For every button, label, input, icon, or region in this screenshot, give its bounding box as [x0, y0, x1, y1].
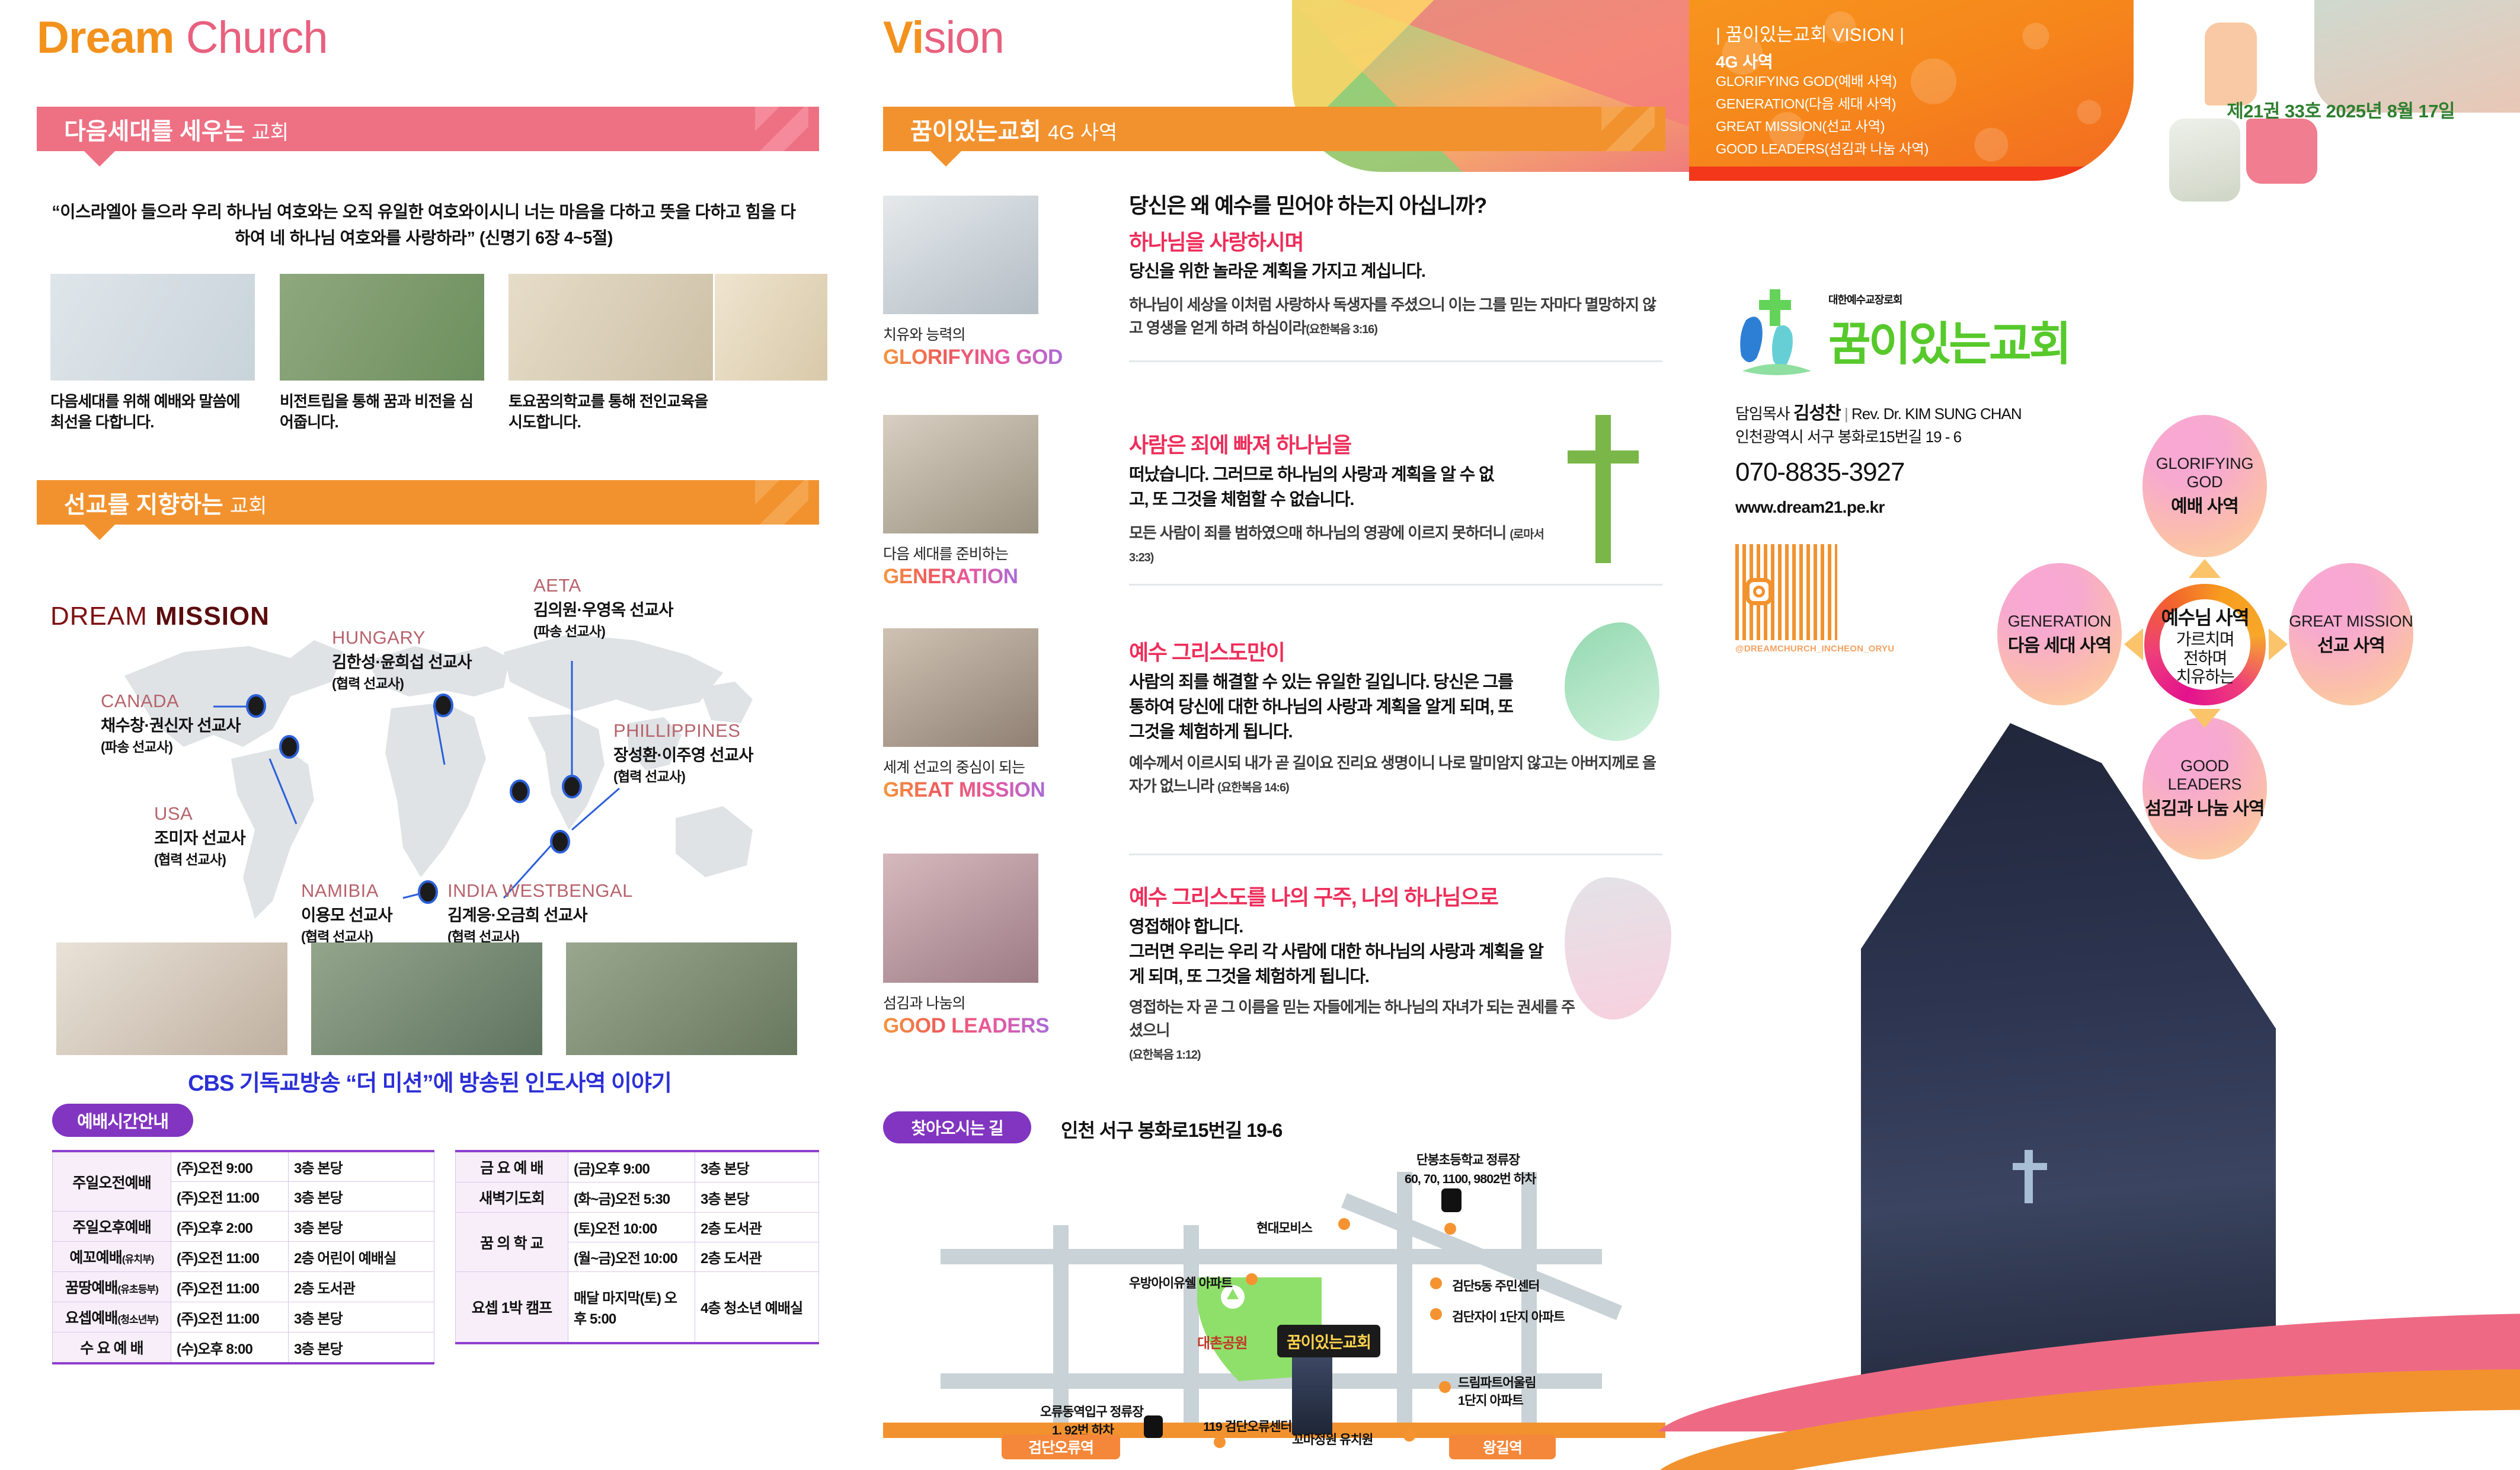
gloria-caption-kr: 치유와 능력의 [883, 323, 965, 344]
node-kr: 예배 사역 [2171, 491, 2238, 517]
map-label-kindergarten: 꼬마정원 유치원 [1292, 1430, 1373, 1448]
map-dot [1430, 1277, 1442, 1289]
ribbon-chevron [1601, 107, 1655, 151]
mission-verse: 예수께서 이르시되 내가 곧 길이요 진리요 생명이니 나로 말미암지 않고는 … [1129, 752, 1662, 798]
masthead-vision-title: | 꿈이있는교회 VISION | [1716, 20, 1904, 46]
photo-great-mission [883, 628, 1038, 747]
arrow-up-icon [2189, 559, 2221, 578]
table-row: 주일오후예배 (주)오후 2:00 3층 본당 [53, 1212, 434, 1242]
ribbon-tail [84, 151, 115, 167]
diagram-center-jesus-ministry: 예수님 사역 가르치며 전하며 치유하는 [2144, 584, 2266, 705]
pastor-name-en: Rev. Dr. KIM SUNG CHAN [1851, 405, 2022, 423]
photo-good-leaders-meal [883, 854, 1038, 983]
divider [1129, 360, 1662, 362]
masthead-4g-item: GREAT MISSION(선교 사역) [1716, 115, 1929, 138]
schedule-name-sub: (유초등부) [117, 1284, 158, 1295]
map-label-geomdan-xi: 검단자이 1단지 아파트 [1452, 1307, 1565, 1325]
mission-body: 사람의 죄를 해결할 수 있는 유일한 길입니다. 당신은 그를 통하여 당신에… [1129, 670, 1532, 744]
missionary-country: AETA [533, 575, 673, 596]
map-church-tag: 꿈이있는교회 [1277, 1325, 1380, 1357]
schedule-name: 수 요 예 배 [80, 1340, 143, 1357]
map-label-oryu-stop: 오류동역입구 정류장 [1040, 1402, 1143, 1420]
ribbon-4g-ministry: 꿈이있는교회 4G 사역 [883, 107, 1665, 151]
ribbon-chevron [755, 107, 808, 151]
table-row: 새벽기도회 (화~금)오전 5:30 3층 본당 [456, 1183, 819, 1213]
bible-verse-deuteronomy: “이스라엘아 들으라 우리 하나님 여호와는 오직 유일한 여호와이시니 너는 … [44, 199, 803, 251]
schedule-time: (수)오후 8:00 [177, 1341, 252, 1357]
missionary-name: 조미자 선교사 [154, 825, 245, 848]
mission-verse-ref: (요한복음 14:6) [1217, 781, 1288, 794]
green-cross-icon [1559, 415, 1648, 563]
ribbon-label: 꿈이있는교회 4G 사역 [883, 112, 1117, 146]
masthead-4g-item: GENERATION(다음 세대 사역) [1716, 92, 1929, 115]
ribbon-label: 선교를 지향하는 교회 [37, 485, 267, 520]
missionary-country: NAMIBIA [301, 880, 392, 902]
photo-cbs-studio [56, 942, 287, 1055]
photo-cbs-interview-1 [311, 942, 542, 1055]
map-label-dreampart-1: 드림파트어울림 [1458, 1373, 1536, 1391]
church-phone: 070-8835-3927 [1735, 458, 1904, 487]
map-label-bus-numbers: 60, 70, 1100, 9802번 하차 [1405, 1169, 1536, 1187]
table-row: 주일오전예배 (주)오전 9:00 3층 본당 [53, 1151, 434, 1182]
map-dot [1444, 1223, 1456, 1235]
diagram-node-glorifying-god: GLORIFYING GOD 예배 사역 [2142, 415, 2267, 557]
ribbon-label-thin: 교회 [230, 495, 267, 517]
q-why-believe: 당신은 왜 예수를 믿어야 하는지 아십니까? [1129, 188, 1486, 219]
generation-caption-en: GENERATION [883, 565, 1018, 589]
directions-map-graphic [883, 1144, 1665, 1464]
mission-head-red: 예수 그리스도만이 [1129, 635, 1284, 666]
schedule-name: 금 요 예 배 [480, 1160, 543, 1177]
missionary-name: 김한성·윤희섭 선교사 [332, 648, 472, 672]
mission-caption-kr: 세계 선교의 중심이 되는 [883, 756, 1025, 777]
gloria-verse: 하나님이 세상을 이처럼 사랑하사 독생자를 주셨으니 이는 그를 믿는 자마다… [1129, 293, 1662, 340]
schedule-place: 3층 본당 [294, 1220, 343, 1236]
tile-pink [2246, 119, 2317, 184]
building-cross-icon [2009, 1150, 2051, 1203]
leaders-verse-ref: (요한복음 1:12) [1129, 1049, 1200, 1062]
gloria-body: 당신을 위한 놀라운 계획을 가지고 계십니다. [1129, 259, 1615, 284]
masthead-4g-label: 4G 사역 [1716, 49, 1773, 73]
map-dot [1439, 1381, 1451, 1393]
map-label-park: 대촌공원 [1197, 1331, 1247, 1352]
map-station-wanggil: 왕길역 [1449, 1434, 1556, 1459]
diagram-node-great-mission: GREAT MISSION 선교 사역 [2289, 563, 2413, 705]
node-en: GREAT MISSION [2289, 612, 2413, 631]
table-row: 꿈 의 학 교 (토)오전 10:00 2층 도서관 [456, 1213, 819, 1242]
bus-icon-1 [1441, 1188, 1462, 1212]
schedule-place: 3층 본당 [701, 1191, 749, 1207]
table-row: 요셉 1박 캠프 매달 마지막(토) 오후 5:00 4층 청소년 예배실 [456, 1272, 819, 1343]
schedule-name: 꿈땅예배 [65, 1280, 117, 1296]
wave-white-gap [1654, 1399, 2520, 1470]
divider [1129, 584, 1662, 586]
vision-title: Vision [883, 12, 1004, 63]
missionary-type: (협력 선교사) [613, 765, 753, 785]
schedule-place: 2층 도서관 [701, 1251, 762, 1267]
tile-peach [2205, 23, 2257, 106]
node-kr: 선교 사역 [2317, 631, 2385, 657]
gloria-caption-en: GLORIFYING GOD [883, 346, 1063, 369]
map-label-119-center: 119 검단오류센터 [1203, 1417, 1291, 1435]
node-en: GOOD LEADERS [2142, 757, 2267, 794]
map-label-danbong-stop: 단봉초등학교 정류장 [1416, 1150, 1520, 1168]
diagram-center-inner: 예수님 사역 가르치며 전하며 치유하는 [2160, 599, 2250, 690]
photo-cbs-interview-2 [566, 942, 797, 1055]
generation-caption-kr: 다음 세대를 준비하는 [883, 542, 1008, 564]
missionary-philippines: PHILLIPPINES 장성환·이주영 선교사 (협력 선교사) [613, 720, 753, 785]
schedule-time: (주)오전 11:00 [177, 1190, 259, 1206]
map-dot [1246, 1273, 1258, 1285]
masthead-4g-list: GLORIFYING GOD(예배 사역) GENERATION(다음 세대 사… [1716, 70, 1929, 160]
diagram-node-generation: GENERATION 다음 세대 사역 [1997, 563, 2122, 705]
schedule-name: 주일오전예배 [72, 1175, 151, 1191]
generation-body: 떠났습니다. 그러므로 하나님의 사랑과 계획을 알 수 없고, 또 그것을 체… [1129, 462, 1508, 512]
missionary-country: CANADA [101, 691, 241, 712]
schedule-time: (화~금)오전 5:30 [574, 1191, 670, 1207]
divider [1129, 854, 1662, 855]
missionary-india: INDIA WESTBENGAL 김계응·오금희 선교사 (협력 선교사) [447, 880, 633, 945]
masthead-red-strip [1689, 167, 2134, 181]
bus-icon-2 [1144, 1415, 1163, 1438]
masthead-4g-item: GOOD LEADERS(섬김과 나눔 사역) [1716, 138, 1929, 160]
schedule-place: 3층 본당 [701, 1161, 749, 1177]
ribbon-label-thin: 교회 [252, 122, 289, 144]
center-title: 예수님 사역 [2161, 603, 2249, 630]
ribbon-chevron [755, 480, 808, 525]
pastor-label: 담임목사 [1735, 405, 1790, 423]
missionary-name: 김계응·오금희 선교사 [447, 902, 633, 925]
table-row: 금 요 예 배 (금)오후 9:00 3층 본당 [456, 1151, 819, 1183]
table-row: 요셉예배(청소년부) (주)오전 11:00 3층 본당 [53, 1302, 434, 1332]
missionary-name: 채수창·권신자 선교사 [101, 712, 241, 736]
center-lines: 가르치며 전하며 치유하는 [2176, 630, 2234, 686]
ribbon-mission-oriented: 선교를 지향하는 교회 [37, 480, 819, 525]
missionary-name: 김의원·우영옥 선교사 [533, 596, 673, 620]
arrow-left-icon [2124, 628, 2143, 660]
schedule-time: (주)오전 11:00 [177, 1251, 259, 1267]
bulletin-page: Dream Church 다음세대를 세우는 교회 “이스라엘아 들으라 우리 … [0, 0, 2520, 1470]
directions-address: 인천 서구 봉화로15번길 19-6 [1061, 1116, 1282, 1143]
leaders-head-red: 예수 그리스도를 나의 구주, 나의 하나님으로 [1129, 880, 1498, 911]
photo-concert [715, 274, 827, 381]
schedule-name: 꿈 의 학 교 [480, 1235, 543, 1252]
schedule-time: (주)오전 9:00 [177, 1161, 252, 1177]
church-logo-main-text: 꿈이있는교회 [1828, 307, 2070, 373]
missionary-name: 이용모 선교사 [301, 902, 392, 925]
photo-caption-2: 비전트립을 통해 꿈과 비전을 심어줍니다. [280, 391, 475, 433]
map-dot [1403, 1430, 1415, 1442]
node-en: GENERATION [2008, 612, 2112, 631]
diagram-node-good-leaders: GOOD LEADERS 섬김과 나눔 사역 [2142, 717, 2267, 859]
generation-verse: 모든 사람이 죄를 범하였으매 하나님의 영광에 이르지 못하더니 (로마서 3… [1129, 522, 1544, 568]
leaders-body: 영접해야 합니다. 그러면 우리는 우리 각 사람에 대한 하나님의 사랑과 계… [1129, 915, 1556, 989]
node-en: GLORIFYING GOD [2142, 455, 2267, 491]
missionary-country: INDIA WESTBENGAL [447, 880, 633, 902]
gloria-head-red: 하나님을 사랑하시며 [1129, 225, 1303, 256]
schedule-place: 3층 본당 [294, 1190, 343, 1206]
schedule-time: (토)오전 10:00 [574, 1221, 657, 1237]
dream-mission-title: DREAM MISSION [50, 602, 270, 631]
generation-verse-text: 모든 사람이 죄를 범하였으매 하나님의 영광에 이르지 못하더니 [1129, 524, 1506, 542]
photo-vision-trip [280, 274, 484, 381]
worship-schedule-table-right: 금 요 예 배 (금)오후 9:00 3층 본당 새벽기도회 (화~금)오전 5… [455, 1150, 819, 1344]
missionary-aeta: AETA 김의원·우영옥 선교사 (파송 선교사) [533, 575, 673, 640]
schedule-place: 3층 본당 [294, 1161, 343, 1177]
ribbon-next-generation: 다음세대를 세우는 교회 [37, 107, 819, 151]
photo-wooden-cross [2169, 119, 2240, 202]
map-church-building-thumb [1292, 1357, 1332, 1434]
missionary-type: (협력 선교사) [332, 672, 472, 692]
schedule-place: 4층 청소년 예배실 [701, 1300, 802, 1316]
map-label-dreampart-2: 1단지 아파트 [1458, 1391, 1523, 1409]
arrow-right-icon [2269, 628, 2288, 660]
worship-schedule-pill: 예배시간안내 [52, 1104, 193, 1137]
missionary-country: HUNGARY [332, 627, 472, 648]
ribbon-label-bold: 선교를 지향하는 [64, 492, 223, 518]
cbs-broadcast-caption: CBS 기독교방송 “더 미션”에 방송된 인도사역 이야기 [36, 1065, 824, 1097]
church-logo-mark [1735, 285, 1824, 379]
missionary-country: PHILLIPPINES [613, 720, 753, 742]
map-label-woobang-apt: 우방아이유쉘 아파트 [1129, 1273, 1232, 1292]
directions-pill: 찾아오시는 길 [883, 1111, 1031, 1143]
pastor-name-kr: 김성찬 [1793, 404, 1841, 423]
ribbon-label-bold: 꿈이있는교회 [910, 119, 1041, 145]
leaders-verse: 영접하는 자 곧 그 이름을 믿는 자들에게는 하나님의 자녀가 되는 권세를 … [1129, 996, 1579, 1065]
schedule-time: (주)오전 11:00 [177, 1281, 259, 1297]
mission-caption-en: GREAT MISSION [883, 778, 1045, 802]
map-station-geomdan-oryu: 검단오류역 [1002, 1434, 1120, 1459]
photo-generation-gathering [883, 415, 1038, 533]
brand-title: Dream Church [37, 12, 328, 63]
missionary-usa: USA 조미자 선교사 (협력 선교사) [154, 803, 245, 868]
hand-sketch-decor [1565, 877, 1671, 1020]
gloria-verse-text: 하나님이 세상을 이처럼 사랑하사 독생자를 주셨으니 이는 그를 믿는 자마다… [1129, 296, 1656, 337]
ribbon-tail [84, 525, 115, 540]
map-label-hyundai-mobis: 현대모비스 [1256, 1218, 1312, 1236]
directions-pill-label: 찾아오시는 길 [911, 1116, 1003, 1139]
ribbon-label: 다음세대를 세우는 교회 [37, 112, 289, 146]
schedule-name: 요셉 1박 캠프 [472, 1300, 552, 1316]
generation-head-red: 사람은 죄에 빠져 하나님을 [1129, 428, 1351, 459]
brand-word-dream: Dream [37, 12, 174, 63]
schedule-place: 2층 어린이 예배실 [294, 1251, 396, 1267]
schedule-name: 예꼬예배 [69, 1249, 121, 1266]
missionary-name: 장성환·이주영 선교사 [613, 742, 753, 765]
masthead-4g-item: GLORIFYING GOD(예배 사역) [1716, 70, 1929, 92]
church-address: 인천광역시 서구 봉화로15번길 19 - 6 [1735, 426, 1961, 449]
dream-mission-bold: MISSION [155, 602, 270, 631]
schedule-time: (월~금)오전 10:00 [574, 1251, 677, 1267]
node-kr: 섬김과 나눔 사역 [2145, 794, 2265, 820]
brand-word-church: Church [174, 12, 328, 63]
photo-worship-service [883, 196, 1038, 314]
table-row: 꿈땅예배(유초등부) (주)오전 11:00 2층 도서관 [53, 1272, 434, 1302]
missionary-country: USA [154, 803, 245, 825]
church-logo-small-text: 대한예수교장로회 [1828, 292, 1902, 307]
church-website: www.dream21.pe.kr [1735, 498, 1885, 517]
mission-verse-text: 예수께서 이르시되 내가 곧 길이요 진리요 생명이니 나로 말미암지 않고는 … [1129, 754, 1656, 795]
map-dot [1338, 1218, 1350, 1230]
green-map-shape [1565, 622, 1659, 741]
vision-word-sion: sion [923, 12, 1003, 63]
arrow-down-icon [2189, 709, 2221, 728]
worship-schedule-pill-label: 예배시간안내 [77, 1108, 168, 1133]
world-mission-map: DREAM MISSION CANADA 채수창·권신자 선교사 (파송 선교사… [36, 569, 824, 925]
instagram-icon-lens [1753, 586, 1765, 597]
missionary-type: (협력 선교사) [154, 848, 245, 868]
table-row: 수 요 예 배 (수)오후 8:00 3층 본당 [53, 1332, 434, 1364]
schedule-time: (주)오전 11:00 [177, 1311, 259, 1327]
schedule-name: 주일오후예배 [72, 1219, 151, 1236]
schedule-time: (금)오후 9:00 [574, 1161, 650, 1177]
photo-caption-1: 다음세대를 위해 예배와 말씀에 최선을 다합니다. [50, 391, 246, 433]
photo-kids-worship [50, 274, 255, 381]
leaders-caption-en: GOOD LEADERS [883, 1014, 1049, 1038]
worship-schedule-table-left: 주일오전예배 (주)오전 9:00 3층 본당 (주)오전 11:00 3층 본… [52, 1150, 434, 1364]
gloria-verse-ref: (요한복음 3:16) [1306, 323, 1377, 336]
schedule-time: (주)오후 2:00 [177, 1220, 252, 1236]
missionary-type: (파송 선교사) [101, 736, 241, 756]
node-kr: 다음 세대 사역 [2008, 631, 2111, 657]
schedule-name: 요셉예배 [65, 1310, 117, 1327]
dream-mission-light: DREAM [50, 602, 155, 631]
ribbon-label-thin: 4G 사역 [1048, 122, 1117, 144]
schedule-place: 3층 본당 [294, 1341, 343, 1357]
photo-caption-3: 토요꿈의학교를 통해 전인교육을 시도합니다. [509, 391, 716, 433]
schedule-place: 2층 도서관 [701, 1221, 762, 1237]
photo-saturday-school [509, 274, 713, 381]
table-row: 예꼬예배(유치부) (주)오전 11:00 2층 어린이 예배실 [53, 1242, 434, 1272]
map-dot [1214, 1436, 1226, 1448]
vision-masthead-box: | 꿈이있는교회 VISION | 4G 사역 GLORIFYING GOD(예… [1689, 0, 2134, 181]
map-dot [1430, 1308, 1442, 1320]
schedule-name-sub: (청소년부) [117, 1314, 158, 1325]
schedule-place: 2층 도서관 [294, 1281, 355, 1297]
ribbon-tail [930, 151, 961, 167]
leaders-verse-text: 영접하는 자 곧 그 이름을 믿는 자들에게는 하나님의 자녀가 되는 권세를 … [1129, 998, 1575, 1039]
vision-word-vi: Vi [883, 12, 923, 63]
missionary-hungary: HUNGARY 김한성·윤희섭 선교사 (협력 선교사) [332, 627, 472, 692]
missionary-namibia: NAMIBIA 이용모 선교사 (협력 선교사) [301, 880, 392, 945]
schedule-name: 새벽기도회 [479, 1190, 545, 1207]
schedule-time: 매달 마지막(토) 오후 5:00 [574, 1290, 677, 1327]
missionary-type: (파송 선교사) [533, 620, 673, 640]
leaders-caption-kr: 섬김과 나눔의 [883, 992, 965, 1013]
map-label-geomdan5-center: 검단5동 주민센터 [1452, 1276, 1539, 1295]
ribbon-label-bold: 다음세대를 세우는 [64, 119, 245, 145]
issue-number-date: 제21권 33호 2025년 8월 17일 [2227, 96, 2455, 123]
missionary-canada: CANADA 채수창·권신자 선교사 (파송 선교사) [101, 691, 241, 756]
instagram-handle: @DREAMCHURCH_INCHEON_ORYU [1735, 644, 1894, 654]
schedule-place: 3층 본당 [294, 1311, 343, 1327]
schedule-name-sub: (유치부) [122, 1254, 154, 1265]
